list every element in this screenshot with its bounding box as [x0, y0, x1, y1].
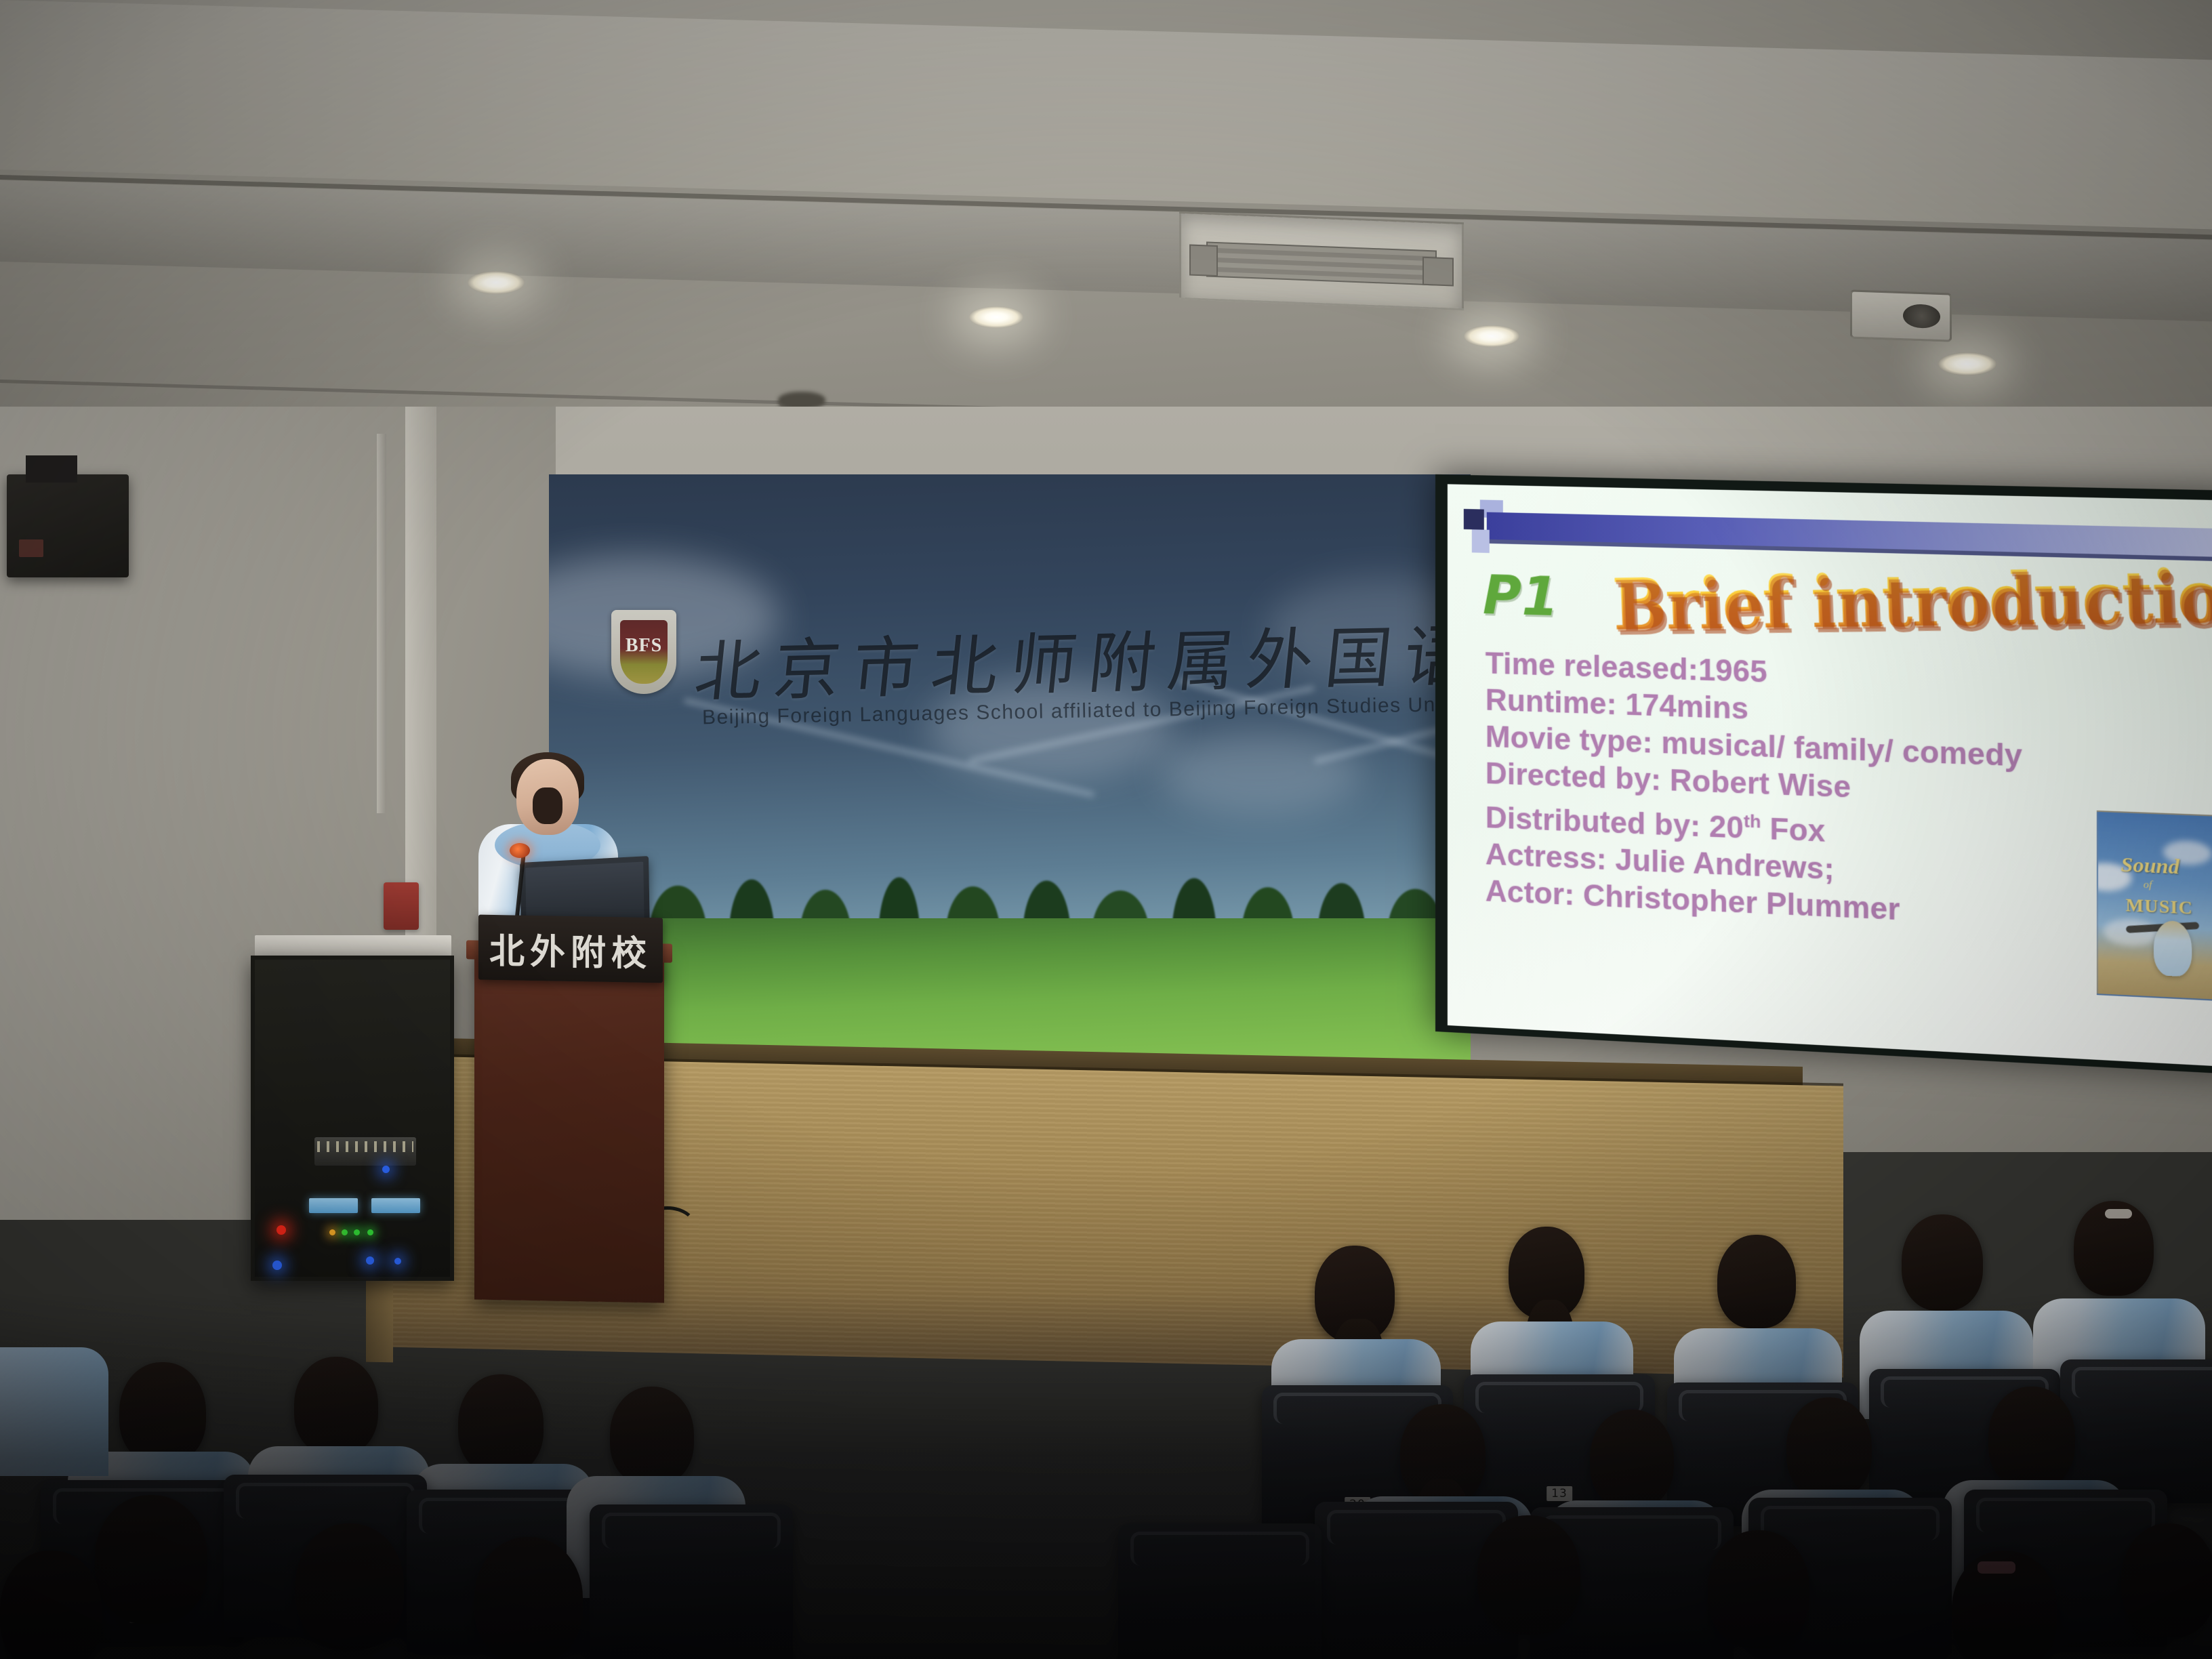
wall-speaker: [7, 474, 129, 577]
presenter-hair-bun: [533, 787, 562, 824]
ceiling-downlight-1: [468, 271, 525, 294]
school-crest-logo: BFS: [611, 610, 676, 694]
ceiling-downlight-4: [1938, 352, 1996, 375]
podium-sign-text: 北外附校: [489, 922, 652, 975]
banner-cloud-3: [1159, 732, 1362, 813]
stage-banner: BFS 北京市北师附属外国语学校 Beijing Foreign Languag…: [549, 474, 1471, 1064]
crest-label: BFS: [611, 635, 676, 657]
poster-title-line2: MUSIC: [2126, 895, 2193, 919]
slide-page-marker: P1: [1483, 565, 1559, 629]
rack-top-shelf: [255, 935, 451, 958]
audience-hairclip-icon: [2105, 1209, 2132, 1218]
ac-vane-left: [1189, 244, 1218, 276]
ceiling-downlight-3: [1464, 325, 1519, 347]
ac-grille-icon: [1206, 241, 1436, 285]
poster-title-connector: of: [2144, 879, 2152, 891]
presentation-slide: P1 Brief introduction Time released:1965…: [1448, 484, 2212, 1067]
ceiling-ac-unit: [1179, 211, 1464, 310]
distributed-superscript: th: [1744, 811, 1761, 832]
fire-alarm-icon: [384, 882, 419, 930]
ceiling-downlight-2: [969, 306, 1023, 328]
speaker-indicator-icon: [19, 539, 43, 557]
projection-screen: P1 Brief introduction Time released:1965…: [1435, 474, 2212, 1075]
projection-screen-surface: P1 Brief introduction Time released:1965…: [1448, 484, 2212, 1067]
slide-accent-square-2: [1472, 529, 1490, 553]
slide-accent-square-1: [1464, 509, 1484, 530]
mixer-knobs-icon: [317, 1141, 413, 1152]
auditorium-scene: BFS 北京市北师附属外国语学校 Beijing Foreign Languag…: [0, 0, 2212, 1659]
projector-lens-icon: [1903, 304, 1940, 329]
podium-name-plate: 北外附校: [478, 915, 663, 983]
banner-grass: [549, 918, 1471, 1064]
speaker-bracket: [26, 455, 77, 483]
poster-title-line1: Sound: [2121, 853, 2179, 879]
wall-conduit: [377, 434, 386, 813]
slide-title-row: P1 Brief introduction: [1483, 558, 2212, 655]
slide-title-wordart: Brief introduction: [1611, 552, 2212, 646]
audio-mixer[interactable]: [314, 1137, 416, 1166]
movie-poster-thumbnail: Sound of MUSIC: [2097, 811, 2212, 1002]
distributed-suffix: Fox: [1761, 812, 1826, 848]
floor-shadow: [0, 1293, 2212, 1659]
ac-vane-right: [1422, 256, 1454, 286]
microphone-icon: [510, 843, 530, 858]
ceiling-projector: [1850, 289, 1952, 342]
